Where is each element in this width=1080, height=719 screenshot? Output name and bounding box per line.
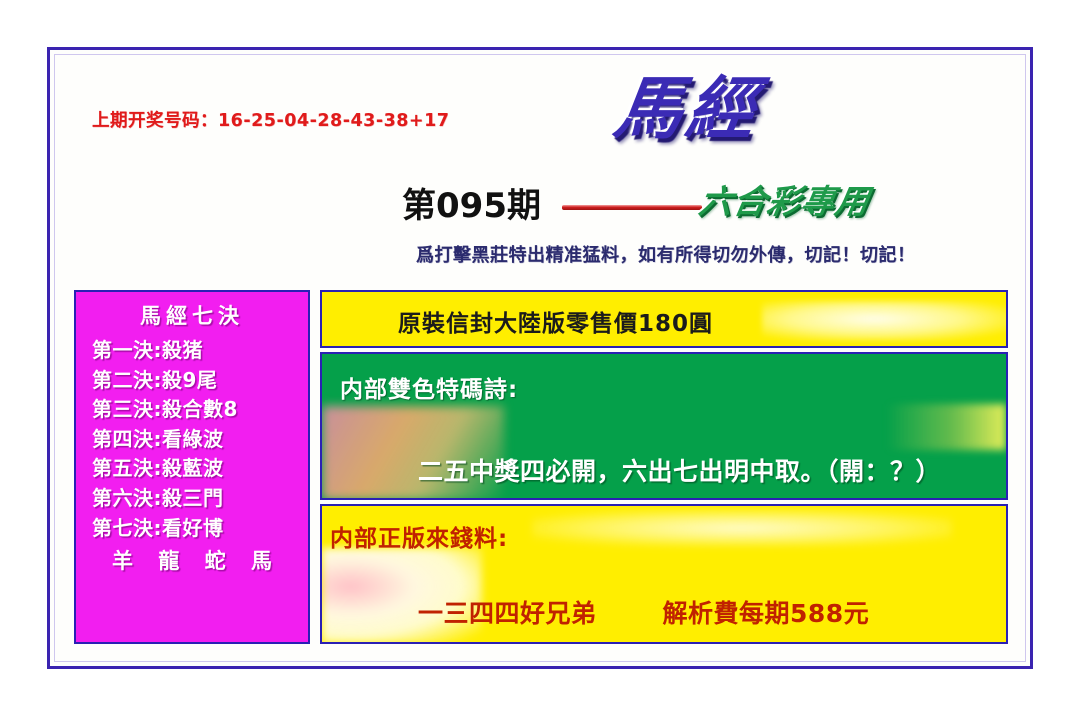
money-blur-top-overlay — [532, 510, 952, 546]
list-item: 第五決:殺藍波 — [76, 454, 308, 484]
money-line: 一三四四好兄弟 解析費每期588元 — [418, 594, 978, 630]
tagline-text: 爲打擊黑莊特出精准猛料，如有所得切勿外傳，切記！切記！ — [416, 241, 916, 267]
list-item: 第六決:殺三門 — [76, 484, 308, 514]
price-blur-overlay — [762, 301, 1008, 341]
brand-title: 馬經 — [610, 76, 764, 144]
last-draw-numbers: 上期开奖号码：16-25-04-28-43-38+17 — [92, 107, 449, 132]
issue-number: 第095期 — [402, 178, 541, 227]
money-box: 内部正版來錢料: 一三四四好兄弟 解析費每期588元 — [320, 504, 1008, 644]
right-column: 原裝信封大陸版零售價180圓 内部雙色特碼詩: 二五中獎四必開，六出七出明中取。… — [320, 290, 1008, 644]
money-fee: 解析費每期588元 — [663, 594, 870, 630]
seven-rules-title: 馬經七決 — [76, 300, 308, 330]
poster-body: 馬經七決 第一決:殺猪 第二決:殺9尾 第三決:殺合數8 第四決:看綠波 第五決… — [74, 290, 1008, 644]
list-item: 第七決:看好博 — [76, 514, 308, 544]
poster-frame: 上期开奖号码：16-25-04-28-43-38+17 馬經 第095期 六合彩… — [47, 47, 1033, 669]
poem-text: 二五中獎四必開，六出七出明中取。（開：？） — [418, 452, 941, 488]
price-box: 原裝信封大陸版零售價180圓 — [320, 290, 1008, 348]
list-item: 第三決:殺合數8 — [76, 395, 308, 425]
poem-box: 内部雙色特碼詩: 二五中獎四必開，六出七出明中取。（開：？） — [320, 352, 1008, 500]
poster-header: 上期开奖号码：16-25-04-28-43-38+17 馬經 第095期 六合彩… — [50, 50, 1030, 283]
red-divider-line — [562, 205, 702, 210]
price-text: 原裝信封大陸版零售價180圓 — [398, 304, 713, 338]
seven-rules-panel: 馬經七決 第一決:殺猪 第二決:殺9尾 第三決:殺合數8 第四決:看綠波 第五決… — [74, 290, 310, 644]
lottery-subtitle: 六合彩專用 — [696, 175, 874, 223]
poem-blur-right-overlay — [886, 404, 1006, 450]
poem-label: 内部雙色特碼詩: — [340, 370, 518, 404]
list-item: 第一決:殺猪 — [76, 336, 308, 366]
seven-rules-list: 第一決:殺猪 第二決:殺9尾 第三決:殺合數8 第四決:看綠波 第五決:殺藍波 … — [76, 336, 308, 543]
list-item: 第二決:殺9尾 — [76, 366, 308, 396]
money-label: 内部正版來錢料: — [330, 519, 508, 553]
money-code: 一三四四好兄弟 — [418, 594, 597, 630]
zodiac-picks: 羊 龍 蛇 馬 — [76, 545, 308, 575]
list-item: 第四決:看綠波 — [76, 425, 308, 455]
